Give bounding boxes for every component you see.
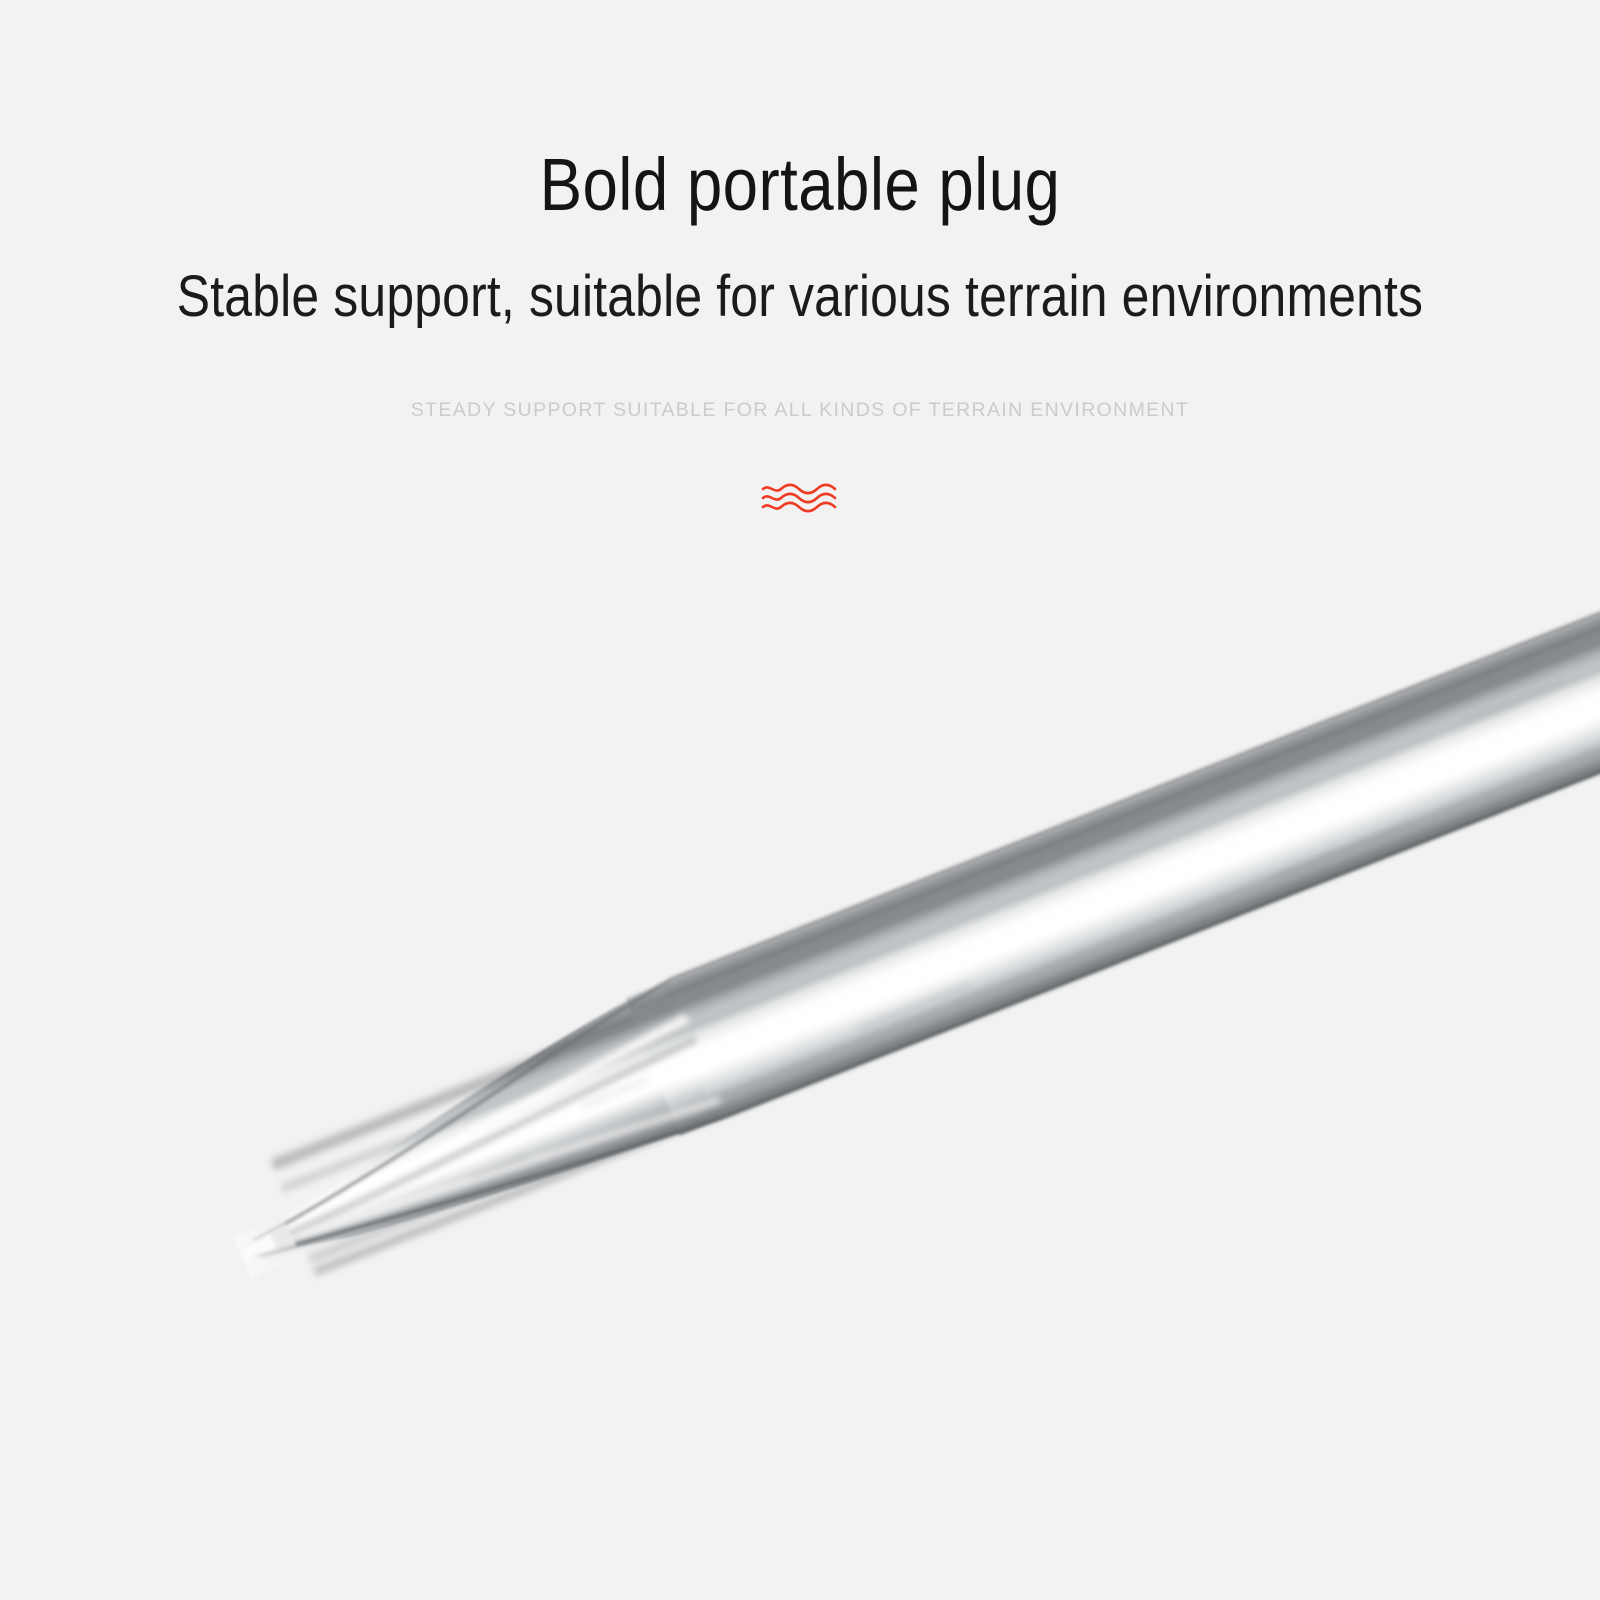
page-title: Bold portable plug xyxy=(112,148,1488,222)
page-subtitle: Stable support, suitable for various ter… xyxy=(112,268,1488,326)
product-image-tent-stake xyxy=(0,0,1600,1600)
product-banner: Bold portable plug Stable support, suita… xyxy=(0,0,1600,1600)
page-caption: STEADY SUPPORT SUITABLE FOR ALL KINDS OF… xyxy=(0,401,1600,421)
wave-divider-ornament xyxy=(761,482,839,514)
triple-wave-icon xyxy=(761,482,839,514)
